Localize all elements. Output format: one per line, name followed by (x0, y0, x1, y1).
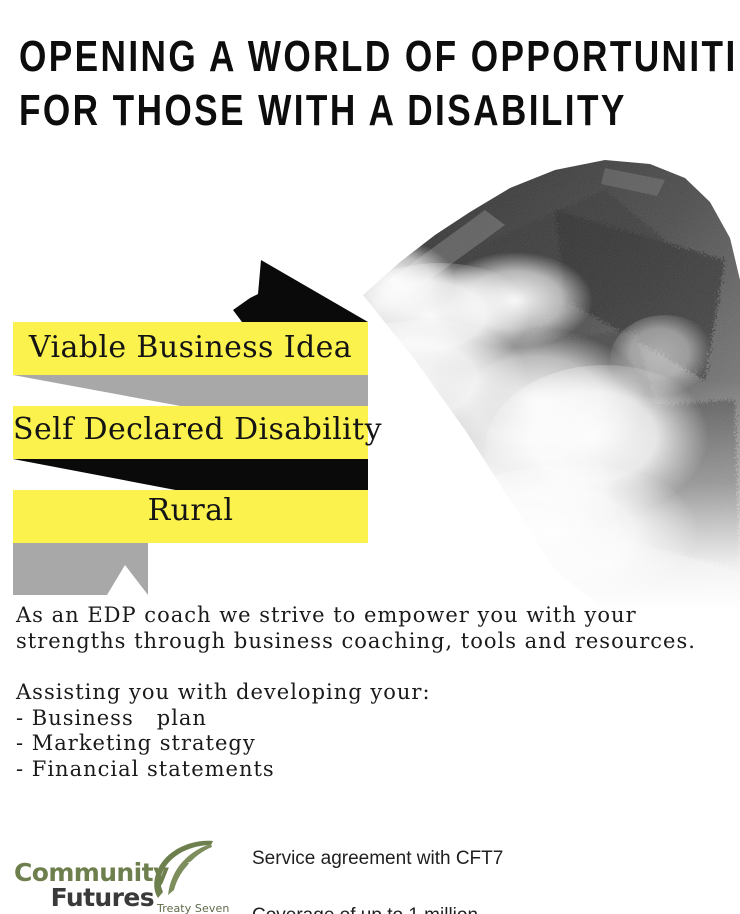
ribbon-tail-black-2 (13, 459, 368, 492)
ribbon-label-self-declared-disability: Self Declared Disability (13, 412, 368, 447)
body-heading-2: Assisting you with developing your: (16, 680, 728, 706)
community-futures-logo: Community Futures Treaty Seven (14, 836, 229, 914)
logo-futures-text: Futures (14, 885, 154, 911)
feather-leaf-icon (147, 838, 219, 900)
footer: Community Futures Treaty Seven Service a… (0, 828, 740, 914)
ribbon-label-rural: Rural (13, 493, 368, 528)
poster-canvas: OPENING A WORLD OF OPPORTUNITIES FOR THO… (0, 0, 740, 914)
logo-community-text: Community (14, 860, 154, 885)
ribbon-tail-black-top (233, 260, 368, 322)
list-item: - Marketing strategy (16, 731, 728, 757)
headline-line-1: OPENING A WORLD OF OPPORTUNITIES (19, 30, 579, 84)
logo-treaty-seven-text: Treaty Seven (157, 902, 229, 914)
paragraph-spacer (16, 654, 728, 680)
ribbon-label-viable-business-idea: Viable Business Idea (13, 330, 368, 365)
body-copy: As an EDP coach we strive to empower you… (16, 603, 728, 782)
footer-note-partial: Coverage of up to 1 million (252, 904, 478, 914)
logo-wordmark: Community Futures (14, 860, 154, 911)
headline-line-2: FOR THOSE WITH A DISABILITY (19, 84, 579, 138)
list-item: - Business plan (16, 706, 728, 732)
page-title: OPENING A WORLD OF OPPORTUNITIES FOR THO… (19, 30, 719, 138)
body-paragraph-1: As an EDP coach we strive to empower you… (16, 603, 728, 654)
ribbon-tail-gray-bottom (13, 543, 148, 595)
footer-note-service-agreement: Service agreement with CFT7 (252, 847, 503, 871)
ribbon-tail-gray-1 (13, 375, 368, 407)
list-item: - Financial statements (16, 757, 728, 783)
